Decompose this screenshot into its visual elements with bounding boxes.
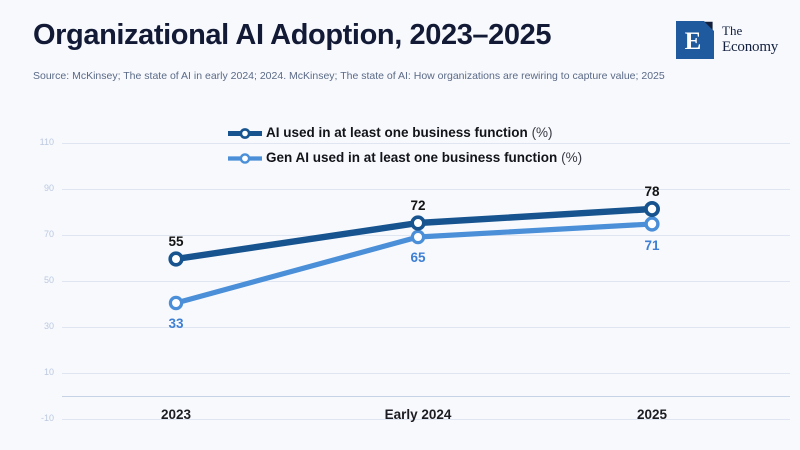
x-tick-2023: 2023 — [106, 407, 246, 422]
source-note: Source: McKinsey; The state of AI in ear… — [33, 68, 673, 84]
brand-logo: E The Economy — [676, 21, 784, 59]
page-title: Organizational AI Adoption, 2023–2025 — [33, 19, 551, 52]
svg-text:E: E — [685, 28, 702, 55]
chart-page: Organizational AI Adoption, 2023–2025 So… — [0, 0, 800, 450]
logo-wordmark: The Economy — [722, 23, 778, 55]
logo-mark-icon: E — [676, 21, 714, 59]
x-tick-2025: 2025 — [582, 407, 722, 422]
chart-header: Organizational AI Adoption, 2023–2025 So… — [0, 0, 800, 110]
logo-line-2: Economy — [722, 39, 778, 55]
x-tick-early-2024: Early 2024 — [348, 407, 488, 422]
chart-plot-area: 110 90 70 50 30 10 -10 AI used in at lea… — [0, 110, 800, 450]
logo-line-1: The — [722, 23, 778, 39]
x-axis: 2023 Early 2024 2025 — [0, 110, 800, 450]
